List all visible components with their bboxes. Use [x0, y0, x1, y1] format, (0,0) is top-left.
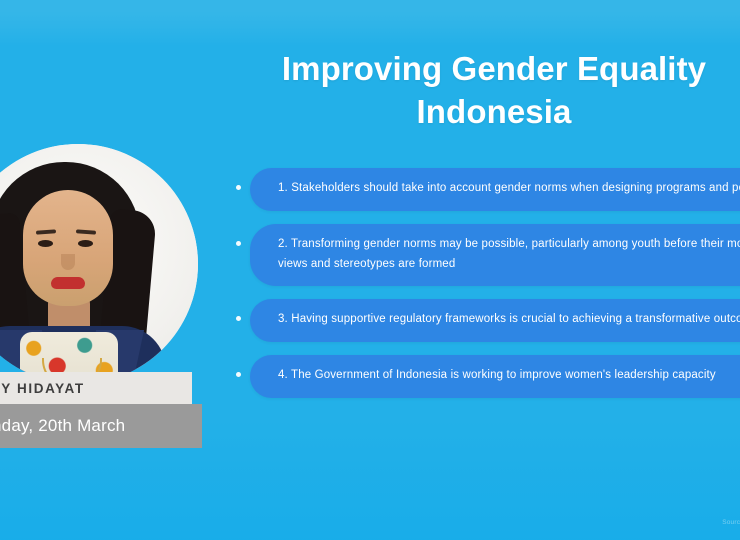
- bullet-dot-icon: [236, 372, 241, 377]
- list-item: 4. The Government of Indonesia is workin…: [232, 355, 740, 398]
- speaker-photo: [0, 144, 198, 384]
- source-credit: Source:: [722, 519, 740, 526]
- bullet-dot-icon: [236, 185, 241, 190]
- avatar: [0, 144, 198, 384]
- bullet-dot-icon: [236, 241, 241, 246]
- portrait-eye-right: [78, 240, 93, 247]
- background-top-strip: [0, 0, 740, 12]
- portrait-eye-left: [38, 240, 53, 247]
- list-item: 2. Transforming gender norms may be poss…: [232, 224, 740, 287]
- key-point-card-2: 2. Transforming gender norms may be poss…: [250, 224, 740, 287]
- key-point-card-3: 3. Having supportive regulatory framewor…: [250, 299, 740, 342]
- presentation-slide: Improving Gender Equality Indonesia 1. S…: [0, 0, 740, 540]
- speaker-name-plate: ENNY HIDAYAT: [0, 372, 192, 404]
- portrait-lips: [51, 277, 85, 289]
- key-point-card-4: 4. The Government of Indonesia is workin…: [250, 355, 740, 398]
- list-item: 1. Stakeholders should take into account…: [232, 168, 740, 211]
- event-date: Monday, 20th March: [0, 416, 125, 436]
- list-item: 3. Having supportive regulatory framewor…: [232, 299, 740, 342]
- speaker-name: ENNY HIDAYAT: [0, 381, 85, 396]
- slide-title: Improving Gender Equality Indonesia: [214, 48, 740, 134]
- bullet-dot-icon: [236, 316, 241, 321]
- portrait-nose: [61, 254, 75, 270]
- key-points-list: 1. Stakeholders should take into account…: [232, 168, 740, 411]
- key-point-card-1: 1. Stakeholders should take into account…: [250, 168, 740, 211]
- speaker-date-plate: Monday, 20th March: [0, 404, 202, 448]
